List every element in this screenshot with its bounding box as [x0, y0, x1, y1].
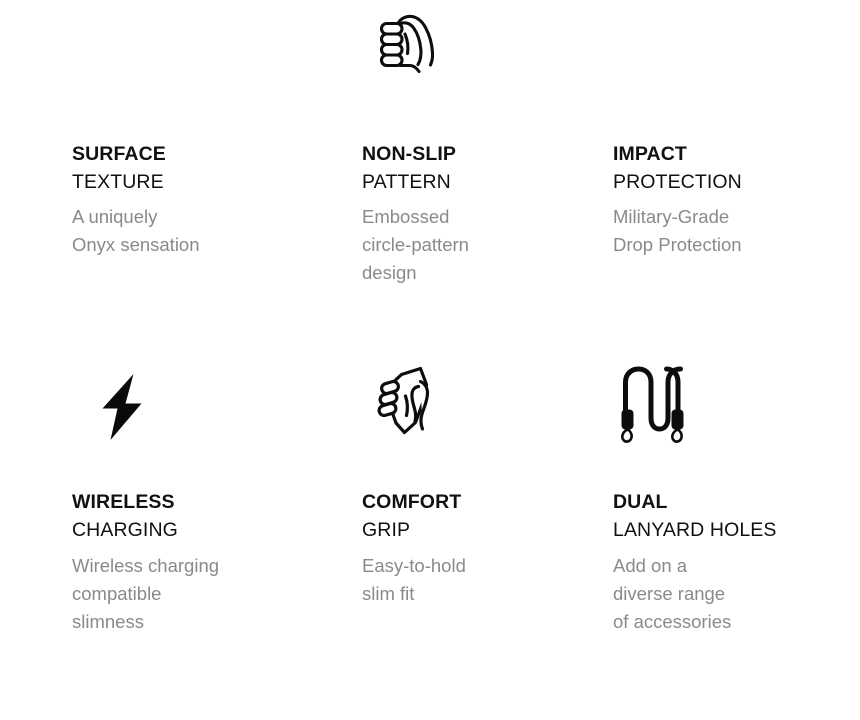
feature-description: Add on a diverse range of accessories	[613, 552, 850, 636]
feature-card-wireless-charging: WIRELESS CHARGING Wireless charging comp…	[72, 360, 362, 720]
feature-title-line2: TEXTURE	[72, 168, 356, 196]
feature-title-line1: COMFORT	[362, 488, 607, 516]
feature-title: IMPACT PROTECTION	[613, 140, 854, 196]
feature-desc-line3: design	[362, 259, 603, 287]
feature-card-comfort-grip: COMFORT GRIP Easy-to-hold slim fit	[362, 360, 613, 720]
feature-desc-line2: compatible	[72, 580, 352, 608]
feature-card-non-slip-pattern: NON-SLIP PATTERN Embossed circle-pattern…	[362, 0, 613, 360]
feature-desc-line1: Add on a	[613, 552, 850, 580]
feature-icon-slot	[374, 362, 494, 448]
feature-description: Embossed circle-pattern design	[362, 203, 603, 287]
feature-title-line2: PATTERN	[362, 168, 607, 196]
feature-description: A uniquely Onyx sensation	[72, 203, 352, 259]
feature-description: Wireless charging compatible slimness	[72, 552, 352, 636]
feature-title-line2: CHARGING	[72, 516, 356, 544]
feature-desc-line2: slim fit	[362, 580, 603, 608]
feature-desc-line2: circle-pattern	[362, 231, 603, 259]
feature-description: Easy-to-hold slim fit	[362, 552, 603, 608]
feature-card-impact-protection: IMPACT PROTECTION Military-Grade Drop Pr…	[613, 0, 860, 360]
feature-description: Military-Grade Drop Protection	[613, 203, 850, 259]
feature-title-line1: WIRELESS	[72, 488, 356, 516]
feature-title: COMFORT GRIP	[362, 488, 607, 544]
feature-icon-slot	[375, 8, 495, 94]
feature-desc-line1: A uniquely	[72, 203, 352, 231]
feature-card-dual-lanyard-holes: DUAL LANYARD HOLES Add on a diverse rang…	[613, 360, 860, 720]
feature-desc-line2: Drop Protection	[613, 231, 850, 259]
feature-title-line2: LANYARD HOLES	[613, 516, 854, 544]
feature-title: SURFACE TEXTURE	[72, 140, 356, 196]
feature-title-line1: DUAL	[613, 488, 854, 516]
feature-desc-line1: Military-Grade	[613, 203, 850, 231]
feature-title: NON-SLIP PATTERN	[362, 140, 607, 196]
feature-title-line1: SURFACE	[72, 140, 356, 168]
feature-title-line1: IMPACT	[613, 140, 854, 168]
feature-desc-line1: Embossed	[362, 203, 603, 231]
feature-title: WIRELESS CHARGING	[72, 488, 356, 544]
feature-desc-line2: diverse range	[613, 580, 850, 608]
feature-icon-slot	[615, 362, 735, 448]
feature-title-line2: PROTECTION	[613, 168, 854, 196]
lanyard-strap-icon	[615, 362, 691, 444]
feature-desc-line2: Onyx sensation	[72, 231, 352, 259]
feature-icon-slot	[92, 370, 212, 456]
feature-desc-line3: slimness	[72, 608, 352, 636]
hand-holding-phone-icon	[374, 362, 446, 444]
feature-card-surface-texture: SURFACE TEXTURE A uniquely Onyx sensatio…	[72, 0, 362, 360]
feature-grid: SURFACE TEXTURE A uniquely Onyx sensatio…	[0, 0, 860, 720]
feature-title-line2: GRIP	[362, 516, 607, 544]
feature-title: DUAL LANYARD HOLES	[613, 488, 854, 544]
feature-desc-line1: Wireless charging	[72, 552, 352, 580]
feature-desc-line3: of accessories	[613, 608, 850, 636]
feature-desc-line1: Easy-to-hold	[362, 552, 603, 580]
grip-hand-icon	[375, 8, 455, 78]
lightning-bolt-icon	[92, 370, 152, 444]
feature-title-line1: NON-SLIP	[362, 140, 607, 168]
